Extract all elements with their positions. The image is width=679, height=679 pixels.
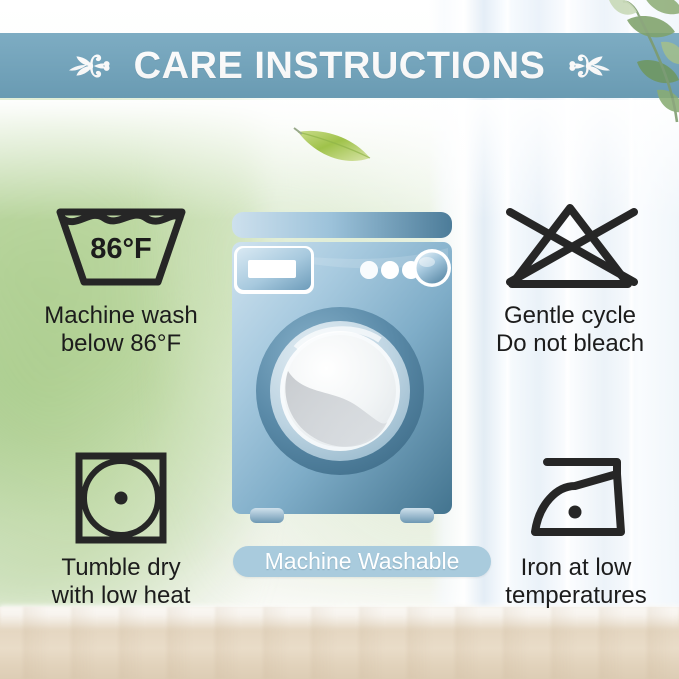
machine-foot [250,508,284,523]
decorative-leaf-branch-icon [565,0,679,125]
control-button [381,261,399,279]
care-symbol-caption: Tumble dry with low heat [52,554,191,610]
floating-leaf-icon [292,118,376,170]
care-symbol-do-not-bleach: Gentle cycle Do not bleach [470,196,670,358]
wash-tub-icon: 86°F [46,196,196,296]
page-title: CARE INSTRUCTIONS [134,47,546,85]
washing-machine-illustration [228,208,456,538]
wash-temperature-value: 86°F [90,233,152,265]
machine-washable-badge: Machine Washable [233,546,491,577]
care-symbol-tumble-dry: Tumble dry with low heat [18,448,224,610]
care-symbol-caption: Gentle cycle Do not bleach [496,302,644,358]
care-instructions-infographic: CARE INSTRUCTIONS [0,0,679,679]
crossed-triangle-icon [494,196,646,296]
care-symbol-caption: Iron at low temperatures [505,554,646,610]
machine-top-lid [232,212,452,238]
care-symbol-machine-wash: 86°F Machine wash below 86°F [16,196,226,358]
control-knob [413,249,451,287]
badge-label: Machine Washable [265,550,460,573]
fleur-de-lis-icon-left [64,46,116,86]
care-symbol-iron: Iron at low temperatures [478,448,674,610]
machine-foot [400,508,434,523]
detergent-drawer [234,246,314,294]
care-symbol-caption: Machine wash below 86°F [44,302,197,358]
wood-grain [0,607,679,679]
iron-icon [513,448,639,548]
machine-door [256,307,424,475]
tumble-dry-icon [71,448,171,548]
